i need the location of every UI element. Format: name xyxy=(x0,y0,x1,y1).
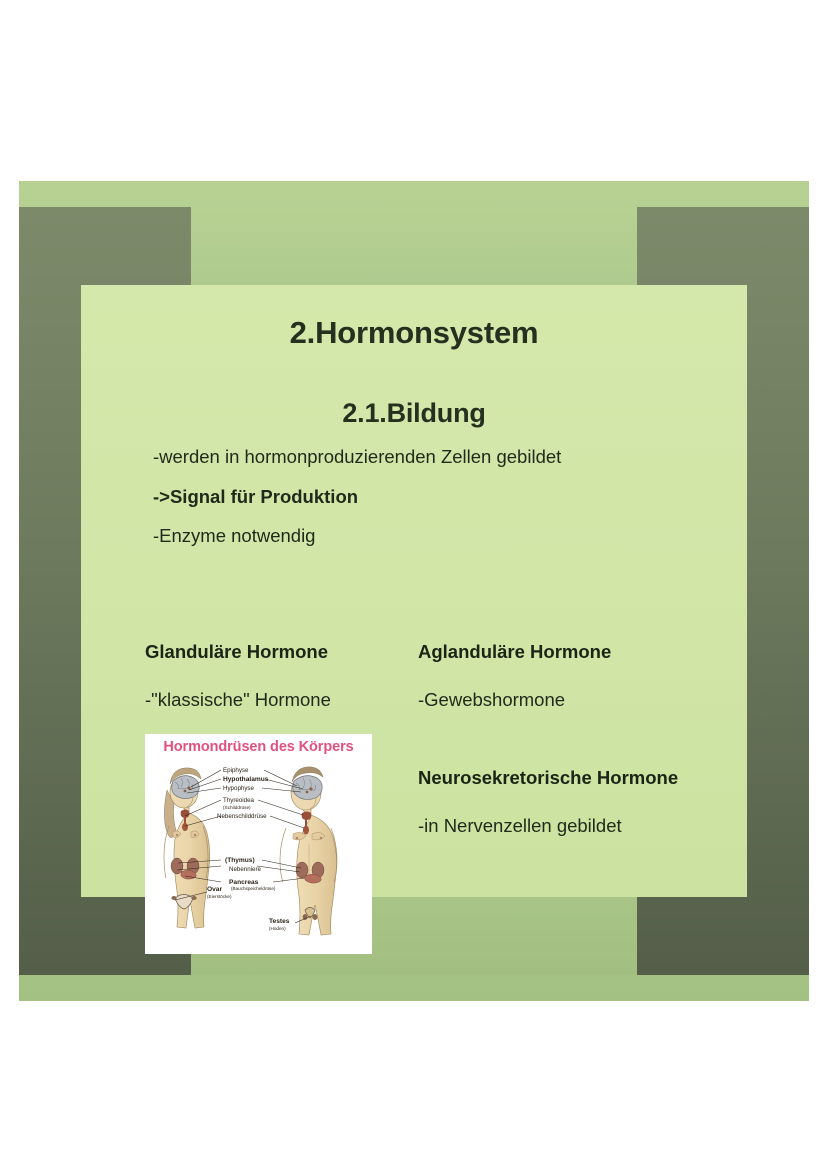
label-thymus: (Thymus) xyxy=(225,857,255,864)
label-pancreas: Pancreas xyxy=(229,879,259,886)
label-testes: Testes xyxy=(269,918,290,925)
frame-notch-top xyxy=(191,207,637,285)
column-heading-glandular: Glanduläre Hormone xyxy=(145,643,420,662)
list-item: -Gewebshormone xyxy=(418,691,738,710)
column-glandular: Glanduläre Hormone -"klassische" Hormone xyxy=(145,643,420,709)
figure-title: Hormondrüsen des Körpers xyxy=(145,739,372,755)
column-aglandular: Aglanduläre Hormone -Gewebshormone Neuro… xyxy=(418,643,738,835)
label-nebenschilddruese: Nebenschilddrüse xyxy=(217,813,267,820)
label-nebenniere: Nebenniere xyxy=(229,866,262,873)
label-hypophyse: Hypophyse xyxy=(223,785,255,792)
list-item: -in Nervenzellen gebildet xyxy=(418,817,738,836)
figure-illustration: Epiphyse Hypothalamus Hypophyse Thyreoid… xyxy=(145,760,372,954)
column-heading-neurosecretory: Neurosekretorische Hormone xyxy=(418,769,738,788)
label-schilddruese: (Schilddrüse) xyxy=(223,805,251,810)
label-thyreoidea: Thyreoidea xyxy=(223,797,255,804)
column-heading-aglandular: Aglanduläre Hormone xyxy=(418,643,738,662)
list-item: -"klassische" Hormone xyxy=(145,691,420,710)
slide: 2.Hormonsystem 2.1.Bildung -werden in ho… xyxy=(19,181,809,1001)
label-bauchspeicheldruese: (Bauchspeicheldrüse) xyxy=(231,886,276,891)
label-hypothalamus: Hypothalamus xyxy=(223,776,269,783)
slide-content: 2.Hormonsystem 2.1.Bildung -werden in ho… xyxy=(81,285,747,897)
page-canvas: 2.Hormonsystem 2.1.Bildung -werden in ho… xyxy=(0,0,828,1171)
label-ovar: Ovar xyxy=(207,886,222,893)
anatomy-diagram-svg: Epiphyse Hypothalamus Hypophyse Thyreoid… xyxy=(145,760,372,954)
label-eierstoecke: (Eierstöcke) xyxy=(207,894,232,899)
label-epiphyse: Epiphyse xyxy=(223,767,249,774)
hormone-glands-figure: Hormondrüsen des Körpers xyxy=(145,734,372,954)
label-hoden: (Hoden) xyxy=(269,926,286,931)
